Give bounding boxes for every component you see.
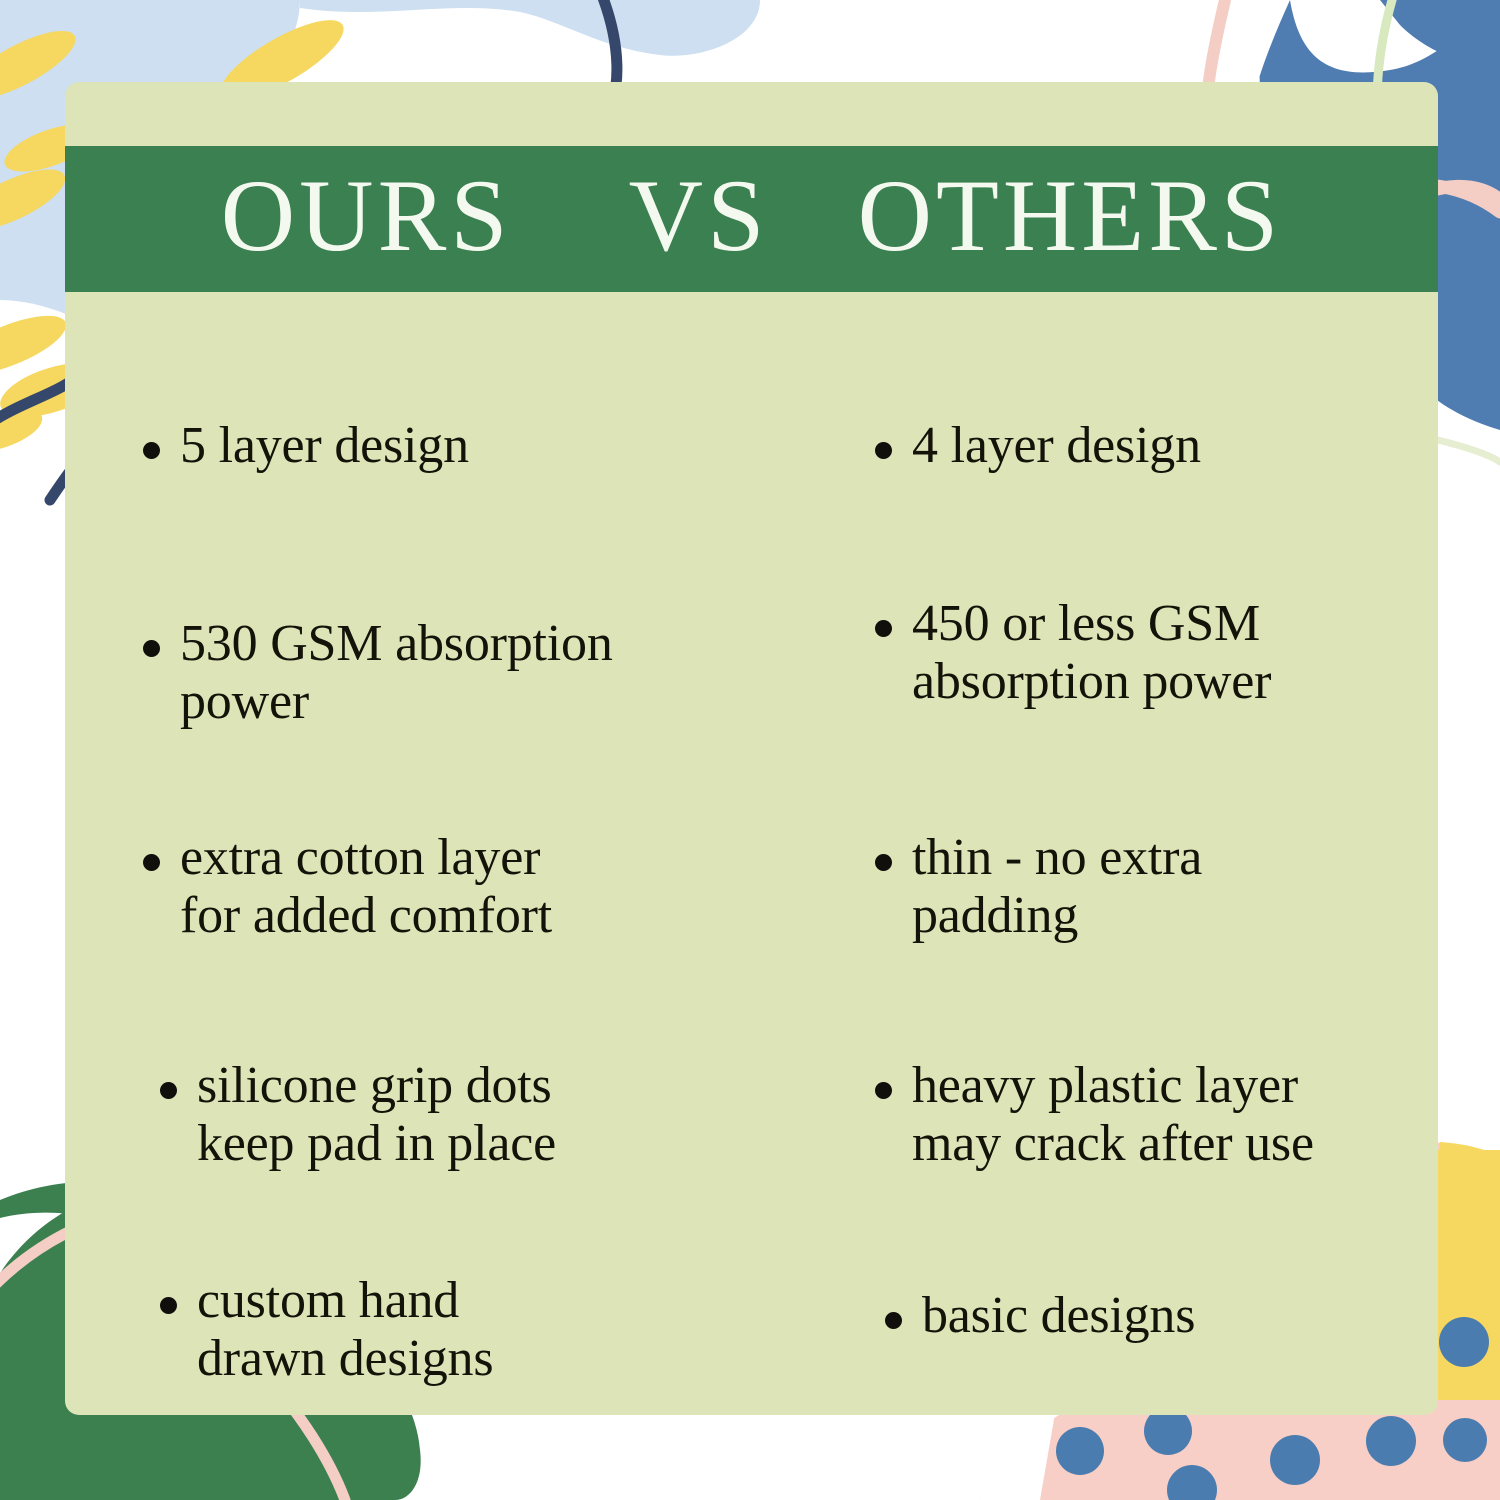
infographic-canvas: OURS VS OTHERS 5 layer design 530 GSM ab… xyxy=(0,0,1500,1500)
list-item-label: 450 or less GSM absorption power xyxy=(912,595,1271,711)
bullet-dot-icon xyxy=(143,854,160,871)
list-item: basic designs xyxy=(885,1287,1195,1345)
polka-dot xyxy=(1443,1418,1487,1462)
bullet-dot-icon xyxy=(875,854,892,871)
list-item: custom hand drawn designs xyxy=(160,1272,493,1388)
bullet-dot-icon xyxy=(160,1082,177,1099)
comparison-banner: OURS VS OTHERS xyxy=(65,146,1438,292)
bullet-dot-icon xyxy=(143,640,160,657)
bullet-dot-icon xyxy=(885,1312,902,1329)
list-item: silicone grip dots keep pad in place xyxy=(160,1057,556,1173)
list-item: heavy plastic layer may crack after use xyxy=(875,1057,1314,1173)
list-item-label: 4 layer design xyxy=(912,417,1201,475)
bullet-dot-icon xyxy=(875,620,892,637)
list-item: thin - no extra padding xyxy=(875,829,1202,945)
bullet-dot-icon xyxy=(875,442,892,459)
list-item-label: thin - no extra padding xyxy=(912,829,1202,945)
list-item-label: heavy plastic layer may crack after use xyxy=(912,1057,1314,1173)
polka-dot xyxy=(1270,1435,1320,1485)
list-item-label: silicone grip dots keep pad in place xyxy=(197,1057,556,1173)
bullet-dot-icon xyxy=(875,1082,892,1099)
list-item-label: 530 GSM absorption power xyxy=(180,615,613,731)
comparison-card: OURS VS OTHERS 5 layer design 530 GSM ab… xyxy=(65,82,1438,1415)
list-item: 4 layer design xyxy=(875,417,1201,475)
bullet-dot-icon xyxy=(160,1297,177,1314)
list-item-label: extra cotton layer for added comfort xyxy=(180,829,552,945)
banner-title: OURS VS OTHERS xyxy=(221,165,1282,268)
list-item: 530 GSM absorption power xyxy=(143,615,613,731)
column-ours: 5 layer design 530 GSM absorption power … xyxy=(65,337,765,1415)
list-item: 5 layer design xyxy=(143,417,469,475)
bullet-dot-icon xyxy=(143,442,160,459)
list-item-label: basic designs xyxy=(922,1287,1195,1345)
list-item: extra cotton layer for added comfort xyxy=(143,829,552,945)
polka-dot xyxy=(1056,1427,1104,1475)
column-others: 4 layer design 450 or less GSM absorptio… xyxy=(765,337,1438,1415)
list-item-label: 5 layer design xyxy=(180,417,469,475)
polka-dot xyxy=(1366,1416,1416,1466)
list-item-label: custom hand drawn designs xyxy=(197,1272,493,1388)
polka-dot xyxy=(1439,1317,1489,1367)
comparison-columns: 5 layer design 530 GSM absorption power … xyxy=(65,337,1438,1415)
list-item: 450 or less GSM absorption power xyxy=(875,595,1271,711)
